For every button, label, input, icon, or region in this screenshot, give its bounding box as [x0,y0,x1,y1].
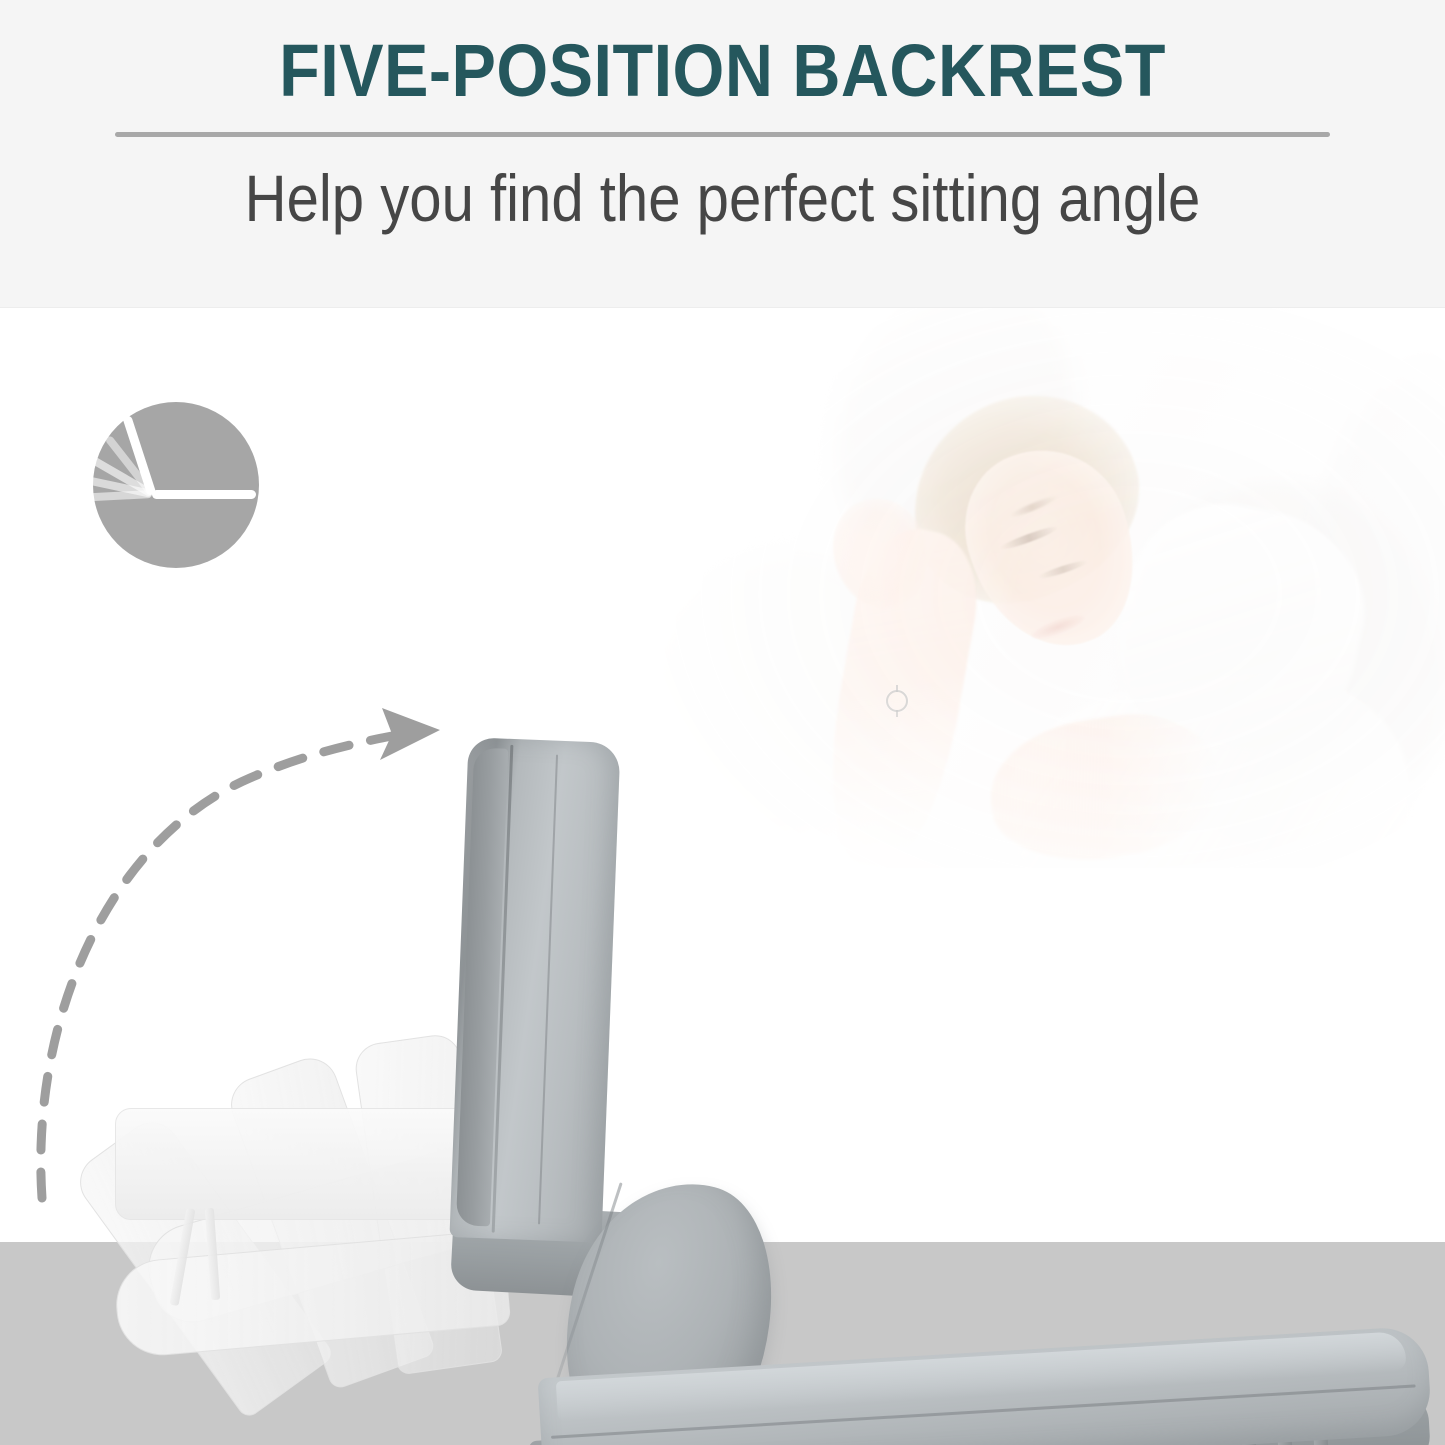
page-title: FIVE-POSITION BACKREST [72,28,1373,113]
product-feature-banner: FIVE-POSITION BACKREST Help you find the… [0,0,1445,1445]
backrest-stitch-seam [538,755,558,1225]
backrest-cushion [449,737,620,1242]
product-scene [0,308,1445,1445]
header-band: FIVE-POSITION BACKREST Help you find the… [0,0,1445,308]
page-subtitle: Help you find the perfect sitting angle [87,160,1359,236]
header-divider [115,132,1330,137]
convertible-chair-bed [0,308,1445,1445]
